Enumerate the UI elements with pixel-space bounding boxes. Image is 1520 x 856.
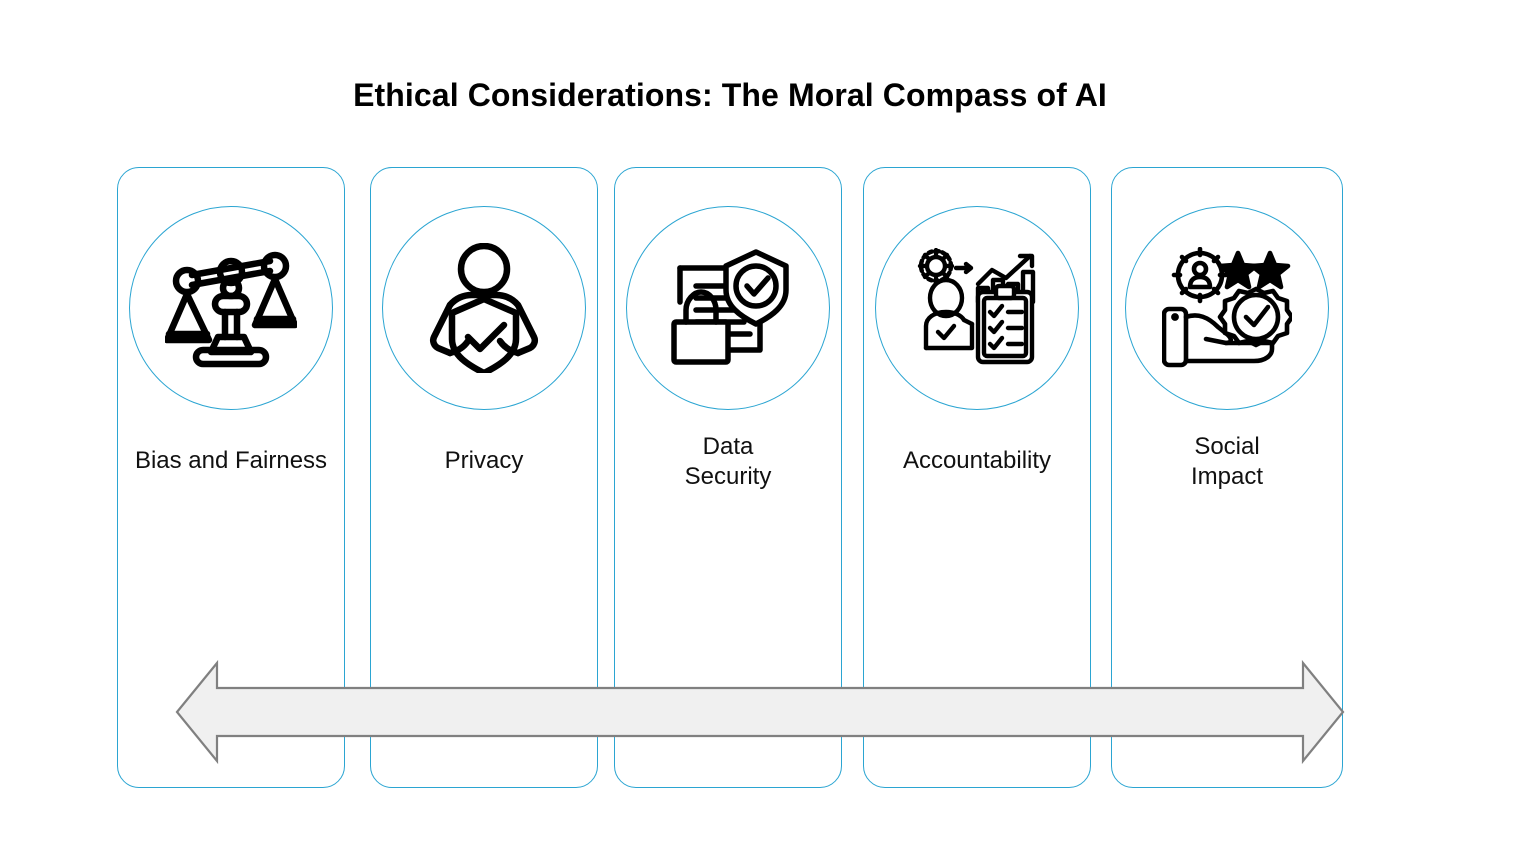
icon-circle-bias-and-fairness (129, 206, 333, 410)
card-label: Social Impact (1118, 432, 1336, 492)
document-lock-shield-check-icon (664, 244, 792, 372)
icon-circle-accountability (875, 206, 1079, 410)
page-title: Ethical Considerations: The Moral Compas… (0, 74, 1460, 116)
card-label: Data Security (621, 432, 835, 492)
card-label: Privacy (377, 446, 591, 476)
card-social-impact[interactable]: Social Impact (1111, 167, 1343, 788)
icon-circle-privacy (382, 206, 586, 410)
card-label: Bias and Fairness (124, 446, 338, 476)
card-data-security[interactable]: Data Security (614, 167, 842, 788)
hand-gear-person-stars-badge-icon (1162, 247, 1292, 369)
card-accountability[interactable]: Accountability (863, 167, 1091, 788)
cards-row: Bias and Fairness (117, 167, 1343, 788)
card-bias-and-fairness[interactable]: Bias and Fairness (117, 167, 345, 788)
card-label: Accountability (870, 446, 1084, 476)
icon-circle-data-security (626, 206, 830, 410)
icon-circle-social-impact (1125, 206, 1329, 410)
balance-scales-icon (165, 248, 297, 368)
person-holding-shield-check-icon (420, 243, 548, 373)
person-gear-chart-clipboard-icon (914, 248, 1040, 368)
slide-canvas: Ethical Considerations: The Moral Compas… (0, 0, 1520, 856)
card-privacy[interactable]: Privacy (370, 167, 598, 788)
